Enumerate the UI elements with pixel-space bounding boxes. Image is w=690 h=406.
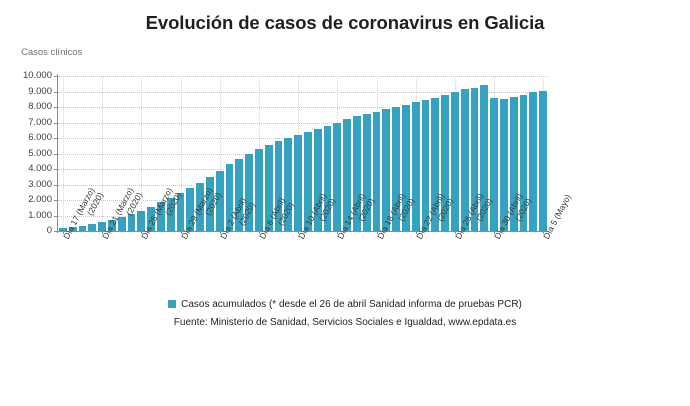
- y-axis-tick-label: 1.000: [8, 210, 52, 221]
- source-note: Fuente: Ministerio de Sanidad, Servicios…: [0, 317, 690, 328]
- y-axis-tick-label: 7.000: [8, 117, 52, 128]
- y-axis-tick-label: 10.000: [8, 70, 52, 81]
- gridline-vertical: [102, 76, 104, 231]
- y-axis-tick-label: 9.000: [8, 86, 52, 97]
- y-axis-tick-mark: [54, 231, 57, 232]
- y-axis-tick-mark: [54, 76, 57, 77]
- y-axis-tick-mark: [54, 154, 57, 155]
- y-axis-tick-mark: [54, 169, 57, 170]
- y-axis-tick-mark: [54, 138, 57, 139]
- y-axis-tick-label: 8.000: [8, 101, 52, 112]
- y-axis-tick-mark: [54, 107, 57, 108]
- bar[interactable]: [332, 123, 342, 232]
- y-axis-tick-label: 4.000: [8, 163, 52, 174]
- y-axis-tick-mark: [54, 200, 57, 201]
- y-axis-tick-label: 0: [8, 225, 52, 236]
- bar[interactable]: [372, 112, 382, 231]
- bar[interactable]: [293, 135, 303, 231]
- y-axis-tick-mark: [54, 123, 57, 124]
- legend-series-label: Casos acumulados (* desde el 26 de abril…: [181, 299, 522, 310]
- gridline-vertical: [141, 76, 143, 231]
- chart-legend: Casos acumulados (* desde el 26 de abril…: [0, 299, 690, 310]
- page-title: Evolución de casos de coronavirus en Gal…: [0, 12, 690, 34]
- bar[interactable]: [411, 102, 421, 231]
- y-axis-tick-label: 2.000: [8, 194, 52, 205]
- gridline-vertical: [63, 76, 65, 231]
- y-axis-tick-mark: [54, 185, 57, 186]
- y-axis-tick-mark: [54, 216, 57, 217]
- bar[interactable]: [538, 91, 548, 231]
- y-axis-caption: Casos clínicos: [21, 47, 82, 58]
- bar[interactable]: [254, 149, 264, 231]
- gridline-horizontal: [58, 76, 548, 78]
- y-axis-tick-label: 5.000: [8, 148, 52, 159]
- bar[interactable]: [450, 92, 460, 232]
- chart-container: Evolución de casos de coronavirus en Gal…: [0, 0, 690, 406]
- legend-swatch-icon: [168, 300, 176, 308]
- bar[interactable]: [489, 98, 499, 231]
- y-axis-tick-label: 6.000: [8, 132, 52, 143]
- bar[interactable]: [528, 92, 538, 231]
- y-axis-tick-label: 3.000: [8, 179, 52, 190]
- y-axis-tick-mark: [54, 92, 57, 93]
